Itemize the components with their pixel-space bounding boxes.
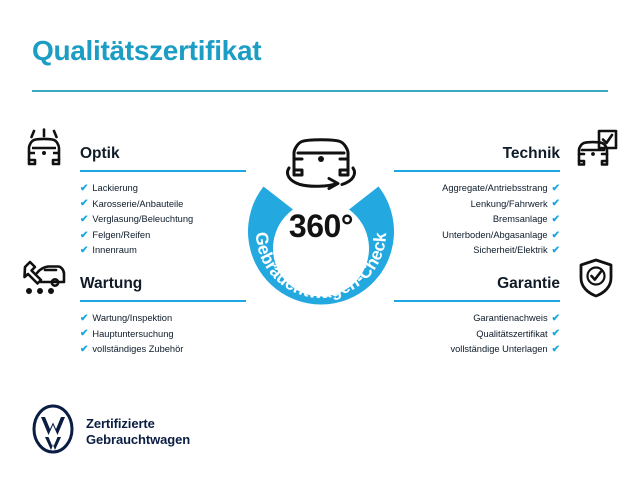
check-icon: ✔ xyxy=(80,215,88,225)
check-icon: ✔ xyxy=(552,184,560,194)
list-item-label: Garantienachweis xyxy=(473,311,547,327)
section-divider xyxy=(394,300,560,302)
list-item: vollständige Unterlagen✔ xyxy=(372,342,560,358)
badge-360-gebrauchtwagen-check: Gebrauchtwagen-Check 360° xyxy=(236,112,406,310)
section-garantie: Garantie Garantienachweis✔ Qualitätszert… xyxy=(372,256,622,358)
section-technik: Technik Aggregate/Antriebsstrang✔ Lenkun… xyxy=(372,126,622,259)
list-item-label: Wartung/Inspektion xyxy=(92,311,172,327)
vw-wordmark-line1: Zertifizierte xyxy=(86,416,190,432)
wrench-car-icon xyxy=(18,256,70,300)
list-item-label: Unterboden/Abgasanlage xyxy=(442,228,547,244)
list-item: Garantienachweis✔ xyxy=(372,311,560,327)
list-item-label: Qualitätszertifikat xyxy=(476,327,547,343)
list-item: Qualitätszertifikat✔ xyxy=(372,327,560,343)
vw-logo xyxy=(32,404,74,459)
check-icon: ✔ xyxy=(80,184,88,194)
section-header: Garantie xyxy=(372,256,622,302)
checklist: ✔Wartung/Inspektion ✔Hauptuntersuchung ✔… xyxy=(18,302,268,358)
list-item-label: Karosserie/Anbauteile xyxy=(92,197,183,213)
check-icon: ✔ xyxy=(552,231,560,241)
vw-footer: Zertifizierte Gebrauchtwagen xyxy=(32,404,190,459)
page-title: Qualitätszertifikat xyxy=(32,35,261,67)
shield-check-icon xyxy=(570,256,622,300)
section-header: Optik xyxy=(18,126,268,172)
list-item-label: Hauptuntersuchung xyxy=(92,327,173,343)
section-divider xyxy=(394,170,560,172)
check-icon: ✔ xyxy=(80,199,88,209)
check-icon: ✔ xyxy=(80,329,88,339)
section-divider xyxy=(80,300,246,302)
check-icon: ✔ xyxy=(80,314,88,324)
list-item-label: Aggregate/Antriebsstrang xyxy=(442,181,547,197)
list-item: ✔Wartung/Inspektion xyxy=(80,311,268,327)
checklist: Garantienachweis✔ Qualitätszertifikat✔ v… xyxy=(372,302,622,358)
check-icon: ✔ xyxy=(552,329,560,339)
section-wartung: Wartung ✔Wartung/Inspektion ✔Hauptunters… xyxy=(18,256,268,358)
check-icon: ✔ xyxy=(80,345,88,355)
check-icon: ✔ xyxy=(80,246,88,256)
check-icon: ✔ xyxy=(552,215,560,225)
list-item-label: Felgen/Reifen xyxy=(92,228,150,244)
section-title: Optik xyxy=(80,145,120,163)
list-item-label: Lenkung/Fahrwerk xyxy=(471,197,548,213)
list-item: ✔vollständiges Zubehör xyxy=(80,342,268,358)
vw-wordmark: Zertifizierte Gebrauchtwagen xyxy=(86,416,190,448)
car-shine-icon xyxy=(18,126,70,170)
list-item-label: Verglasung/Beleuchtung xyxy=(92,212,193,228)
car-checkbox-icon xyxy=(570,126,622,170)
title-divider xyxy=(32,90,608,92)
badge-center-text: 360° xyxy=(236,208,406,245)
checklist: ✔Lackierung ✔Karosserie/Anbauteile ✔Verg… xyxy=(18,172,268,259)
list-item-label: vollständiges Zubehör xyxy=(92,342,183,358)
vw-wordmark-line2: Gebrauchtwagen xyxy=(86,432,190,448)
section-title: Technik xyxy=(503,145,560,163)
check-icon: ✔ xyxy=(552,199,560,209)
section-optik: Optik ✔Lackierung ✔Karosserie/Anbauteile… xyxy=(18,126,268,259)
quality-certificate-page: Qualitätszertifikat xyxy=(0,0,640,480)
list-item: ✔Hauptuntersuchung xyxy=(80,327,268,343)
list-item-label: Bremsanlage xyxy=(493,212,548,228)
checklist: Aggregate/Antriebsstrang✔ Lenkung/Fahrwe… xyxy=(372,172,622,259)
check-icon: ✔ xyxy=(552,345,560,355)
car-rotate-icon xyxy=(287,140,354,189)
list-item-label: vollständige Unterlagen xyxy=(450,342,547,358)
section-divider xyxy=(80,170,246,172)
section-header: Wartung xyxy=(18,256,268,302)
check-icon: ✔ xyxy=(552,246,560,256)
check-icon: ✔ xyxy=(80,231,88,241)
section-title: Wartung xyxy=(80,275,142,293)
section-header: Technik xyxy=(372,126,622,172)
check-icon: ✔ xyxy=(552,314,560,324)
list-item-label: Lackierung xyxy=(92,181,137,197)
section-title: Garantie xyxy=(497,275,560,293)
